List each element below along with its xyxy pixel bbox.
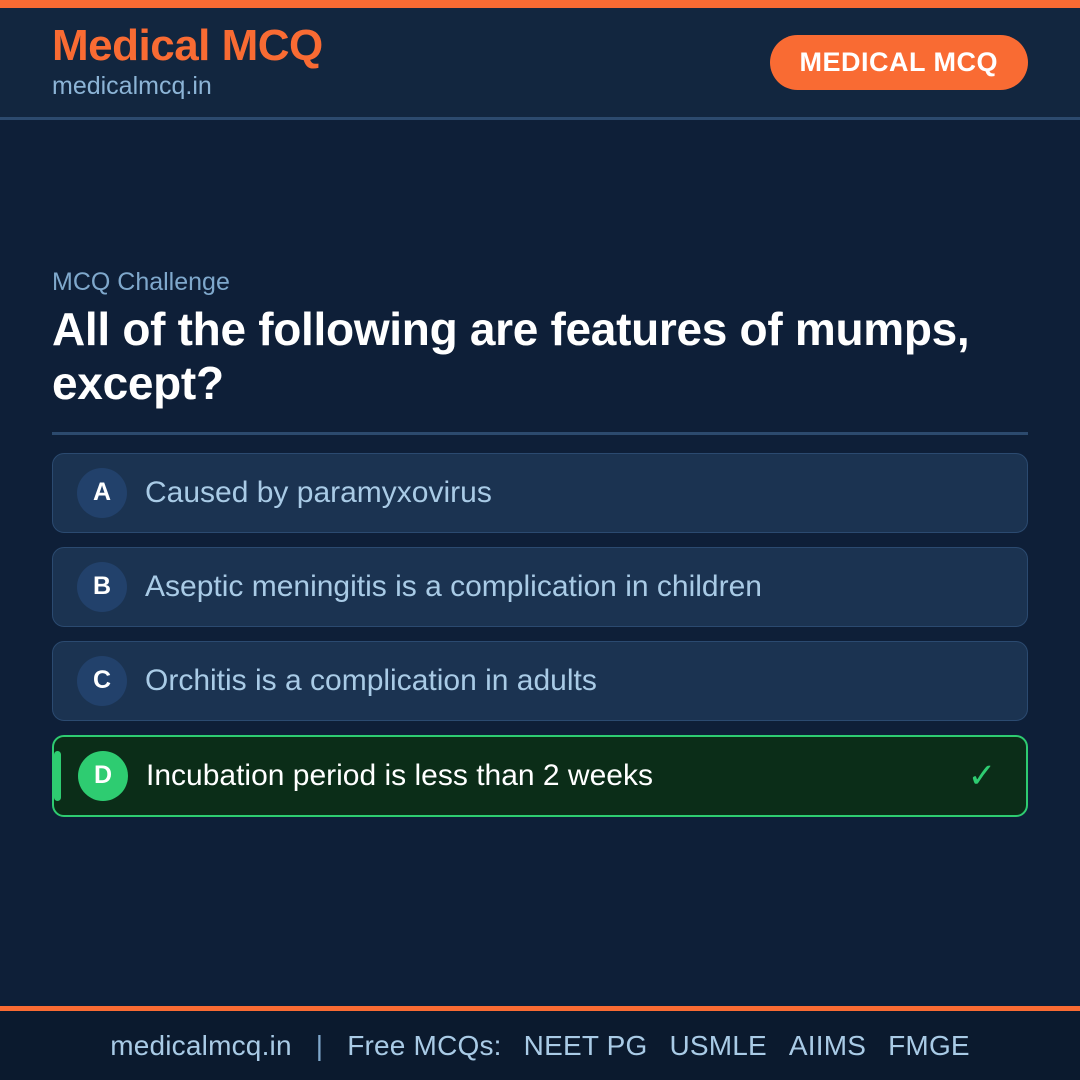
option-a[interactable]: A Caused by paramyxovirus ✓ [52,453,1028,533]
correct-accent-bar [54,751,61,801]
footer-exam-usmle: USMLE [655,1030,766,1061]
brand-block: Medical MCQ medicalmcq.in [52,23,323,102]
content-inner: MCQ Challenge All of the following are f… [52,267,1028,817]
option-letter-badge: A [77,468,127,518]
footer-separator: | [300,1030,339,1061]
option-label: Caused by paramyxovirus [145,475,961,510]
top-accent-bar [0,0,1080,8]
header: Medical MCQ medicalmcq.in MEDICAL MCQ [0,8,1080,120]
footer-exam-neet: NEET PG [510,1030,648,1061]
brand-title: Medical MCQ [52,23,323,69]
main-content: MCQ Challenge All of the following are f… [0,120,1080,1006]
footer-label: Free MCQs: [347,1030,501,1061]
option-letter-badge: C [77,656,127,706]
brand-badge: MEDICAL MCQ [770,35,1029,90]
option-label: Orchitis is a complication in adults [145,663,961,698]
option-label: Incubation period is less than 2 weeks [146,758,960,793]
footer-text: medicalmcq.in | Free MCQs: NEET PG USMLE… [110,1030,970,1062]
check-icon: ✓ [960,756,1004,796]
option-c[interactable]: C Orchitis is a complication in adults ✓ [52,641,1028,721]
footer-site: medicalmcq.in [110,1030,292,1061]
question-text: All of the following are features of mum… [52,303,1012,410]
footer: medicalmcq.in | Free MCQs: NEET PG USMLE… [0,1006,1080,1080]
question-divider [52,432,1028,435]
option-d[interactable]: D Incubation period is less than 2 weeks… [52,735,1028,817]
options-list: A Caused by paramyxovirus ✓ B Aseptic me… [52,453,1028,817]
footer-exam-fmge: FMGE [874,1030,970,1061]
option-letter-badge: D [78,751,128,801]
mcq-card: Medical MCQ medicalmcq.in MEDICAL MCQ MC… [0,0,1080,1080]
option-label: Aseptic meningitis is a complication in … [145,569,961,604]
option-letter-badge: B [77,562,127,612]
brand-subtitle: medicalmcq.in [52,71,323,102]
eyebrow-label: MCQ Challenge [52,267,1028,297]
footer-exam-aiims: AIIMS [775,1030,866,1061]
option-b[interactable]: B Aseptic meningitis is a complication i… [52,547,1028,627]
